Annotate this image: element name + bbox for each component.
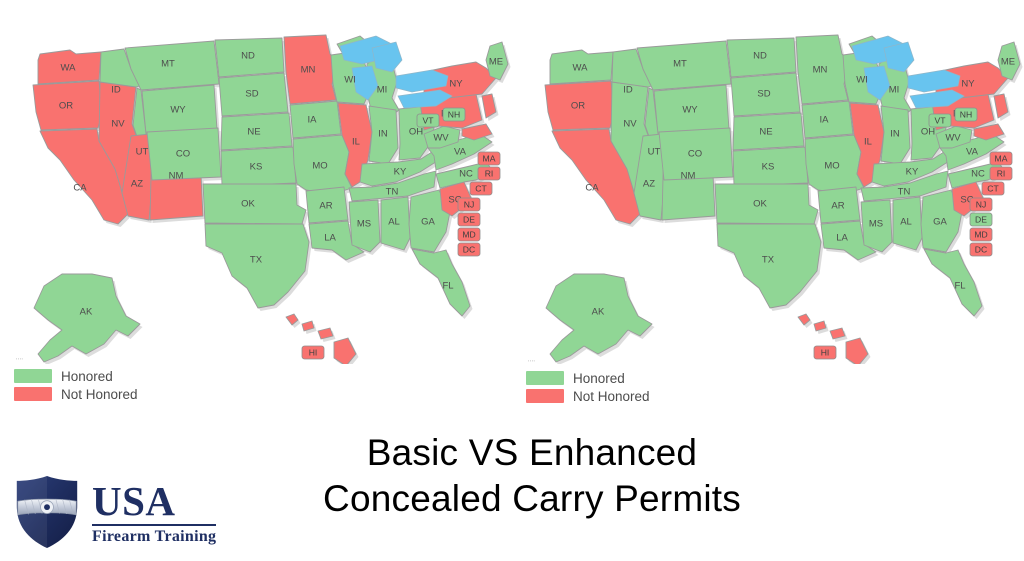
callout-label-md: MD bbox=[462, 229, 475, 239]
state-sd[interactable] bbox=[219, 73, 288, 116]
callout-label-nh: NH bbox=[960, 109, 972, 119]
page-title: Basic VS Enhanced Concealed Carry Permit… bbox=[232, 430, 832, 522]
legend-swatch-not-honored bbox=[526, 389, 564, 403]
state-in[interactable] bbox=[369, 106, 398, 164]
callout-vt[interactable]: VT bbox=[417, 114, 439, 127]
legend-tick-marks: '''' bbox=[16, 357, 224, 367]
state-nd[interactable] bbox=[727, 38, 796, 77]
state-mo[interactable] bbox=[805, 135, 864, 194]
callout-md[interactable]: MD bbox=[970, 228, 992, 241]
callout-ri[interactable]: RI bbox=[990, 167, 1012, 180]
state-fl[interactable] bbox=[924, 249, 982, 316]
state-ok[interactable] bbox=[203, 184, 306, 224]
callout-ma[interactable]: MA bbox=[478, 152, 500, 165]
callout-ri[interactable]: RI bbox=[478, 167, 500, 180]
title-line-1: Basic VS Enhanced bbox=[232, 430, 832, 476]
state-wa[interactable] bbox=[38, 50, 101, 84]
callout-dc[interactable]: DC bbox=[970, 243, 992, 256]
state-ia[interactable] bbox=[802, 101, 853, 138]
state-fl[interactable] bbox=[412, 249, 470, 316]
title-line-2: Concealed Carry Permits bbox=[232, 476, 832, 522]
callout-de[interactable]: DE bbox=[458, 213, 480, 226]
callout-label-hi: HI bbox=[309, 347, 318, 357]
callout-nh[interactable]: NH bbox=[955, 108, 977, 121]
callout-label-vt: VT bbox=[935, 115, 947, 125]
callout-label-ri: RI bbox=[485, 168, 494, 178]
callout-de[interactable]: DE bbox=[970, 213, 992, 226]
callout-nh[interactable]: NH bbox=[443, 108, 465, 121]
callout-label-dc: DC bbox=[463, 244, 475, 254]
state-or[interactable] bbox=[33, 81, 102, 130]
state-ak[interactable] bbox=[546, 274, 652, 362]
legend-item-honored: Honored bbox=[526, 369, 736, 387]
legend-label-not-honored: Not Honored bbox=[573, 389, 650, 404]
state-ar[interactable] bbox=[818, 187, 860, 223]
state-mt[interactable] bbox=[125, 41, 219, 90]
state-co[interactable] bbox=[147, 128, 221, 180]
callout-ma[interactable]: MA bbox=[990, 152, 1012, 165]
callout-hi[interactable]: HI bbox=[302, 346, 324, 359]
callout-vt[interactable]: VT bbox=[929, 114, 951, 127]
brand-logo: USA Firearm Training bbox=[10, 474, 216, 550]
callout-ct[interactable]: CT bbox=[982, 182, 1004, 195]
state-in[interactable] bbox=[881, 106, 910, 164]
state-tx[interactable] bbox=[205, 224, 309, 308]
callout-ct[interactable]: CT bbox=[470, 182, 492, 195]
callout-label-ct: CT bbox=[987, 183, 999, 193]
state-mo[interactable] bbox=[293, 135, 352, 194]
callout-label-de: DE bbox=[975, 214, 987, 224]
state-ks[interactable] bbox=[733, 147, 808, 186]
us-map-svg: WAORCANVIDMTWYUTAZNMCONDSDNEKSOKTXMNIAMO… bbox=[512, 24, 1024, 364]
callout-nj[interactable]: NJ bbox=[970, 198, 992, 211]
state-wa[interactable] bbox=[550, 50, 613, 84]
state-sd[interactable] bbox=[731, 73, 800, 116]
callout-label-ma: MA bbox=[483, 153, 496, 163]
callout-dc[interactable]: DC bbox=[458, 243, 480, 256]
callout-label-ct: CT bbox=[475, 183, 487, 193]
legend-enhanced: '''' Honored Not Honored bbox=[526, 359, 736, 405]
legend-label-not-honored: Not Honored bbox=[61, 387, 138, 402]
logo-wordmark: USA Firearm Training bbox=[92, 479, 216, 546]
legend-basic: '''' Honored Not Honored bbox=[14, 357, 224, 403]
callout-nj[interactable]: NJ bbox=[458, 198, 480, 211]
state-tx[interactable] bbox=[717, 224, 821, 308]
callout-label-ri: RI bbox=[997, 168, 1006, 178]
legend-label-honored: Honored bbox=[573, 371, 625, 386]
state-ne[interactable] bbox=[733, 113, 804, 150]
legend-label-honored: Honored bbox=[61, 369, 113, 384]
logo-divider bbox=[92, 524, 216, 526]
callout-hi[interactable]: HI bbox=[814, 346, 836, 359]
state-ia[interactable] bbox=[290, 101, 341, 138]
shield-icon bbox=[10, 474, 84, 550]
map-enhanced-permits: WAORCANVIDMTWYUTAZNMCONDSDNEKSOKTXMNIAMO… bbox=[512, 24, 1024, 364]
state-ok[interactable] bbox=[715, 184, 818, 224]
state-wy[interactable] bbox=[142, 85, 217, 134]
logo-tagline: Firearm Training bbox=[92, 528, 216, 546]
callout-label-nj: NJ bbox=[464, 199, 475, 209]
callout-label-dc: DC bbox=[975, 244, 987, 254]
state-nd[interactable] bbox=[215, 38, 284, 77]
callout-label-de: DE bbox=[463, 214, 475, 224]
state-co[interactable] bbox=[659, 128, 733, 180]
callout-label-ma: MA bbox=[995, 153, 1008, 163]
slide-canvas: WAORCANVIDMTWYUTAZNMCONDSDNEKSOKTXMNIAMO… bbox=[0, 0, 1024, 561]
callout-label-vt: VT bbox=[423, 115, 435, 125]
callout-label-nj: NJ bbox=[976, 199, 987, 209]
legend-swatch-not-honored bbox=[14, 387, 52, 401]
state-ms[interactable] bbox=[861, 200, 892, 252]
legend-item-not-honored: Not Honored bbox=[526, 387, 736, 405]
state-ms[interactable] bbox=[349, 200, 380, 252]
state-mt[interactable] bbox=[637, 41, 731, 90]
callout-label-hi: HI bbox=[821, 347, 830, 357]
callout-md[interactable]: MD bbox=[458, 228, 480, 241]
callout-label-nh: NH bbox=[448, 109, 460, 119]
state-al[interactable] bbox=[893, 197, 922, 250]
state-al[interactable] bbox=[381, 197, 410, 250]
us-map-svg: WAORCANVIDMTWYUTAZNMCONDSDNEKSOKTXMNIAMO… bbox=[0, 24, 512, 364]
map-basic-permits: WAORCANVIDMTWYUTAZNMCONDSDNEKSOKTXMNIAMO… bbox=[0, 24, 512, 364]
logo-name: USA bbox=[92, 481, 216, 521]
legend-swatch-honored bbox=[526, 371, 564, 385]
state-ar[interactable] bbox=[306, 187, 348, 223]
legend-item-honored: Honored bbox=[14, 367, 224, 385]
state-ks[interactable] bbox=[221, 147, 296, 186]
callout-label-md: MD bbox=[974, 229, 987, 239]
legend-item-not-honored: Not Honored bbox=[14, 385, 224, 403]
state-wy[interactable] bbox=[654, 85, 729, 134]
state-ne[interactable] bbox=[221, 113, 292, 150]
legend-swatch-honored bbox=[14, 369, 52, 383]
state-or[interactable] bbox=[545, 81, 614, 130]
legend-tick-marks: '''' bbox=[528, 359, 736, 369]
state-ak[interactable] bbox=[34, 274, 140, 362]
